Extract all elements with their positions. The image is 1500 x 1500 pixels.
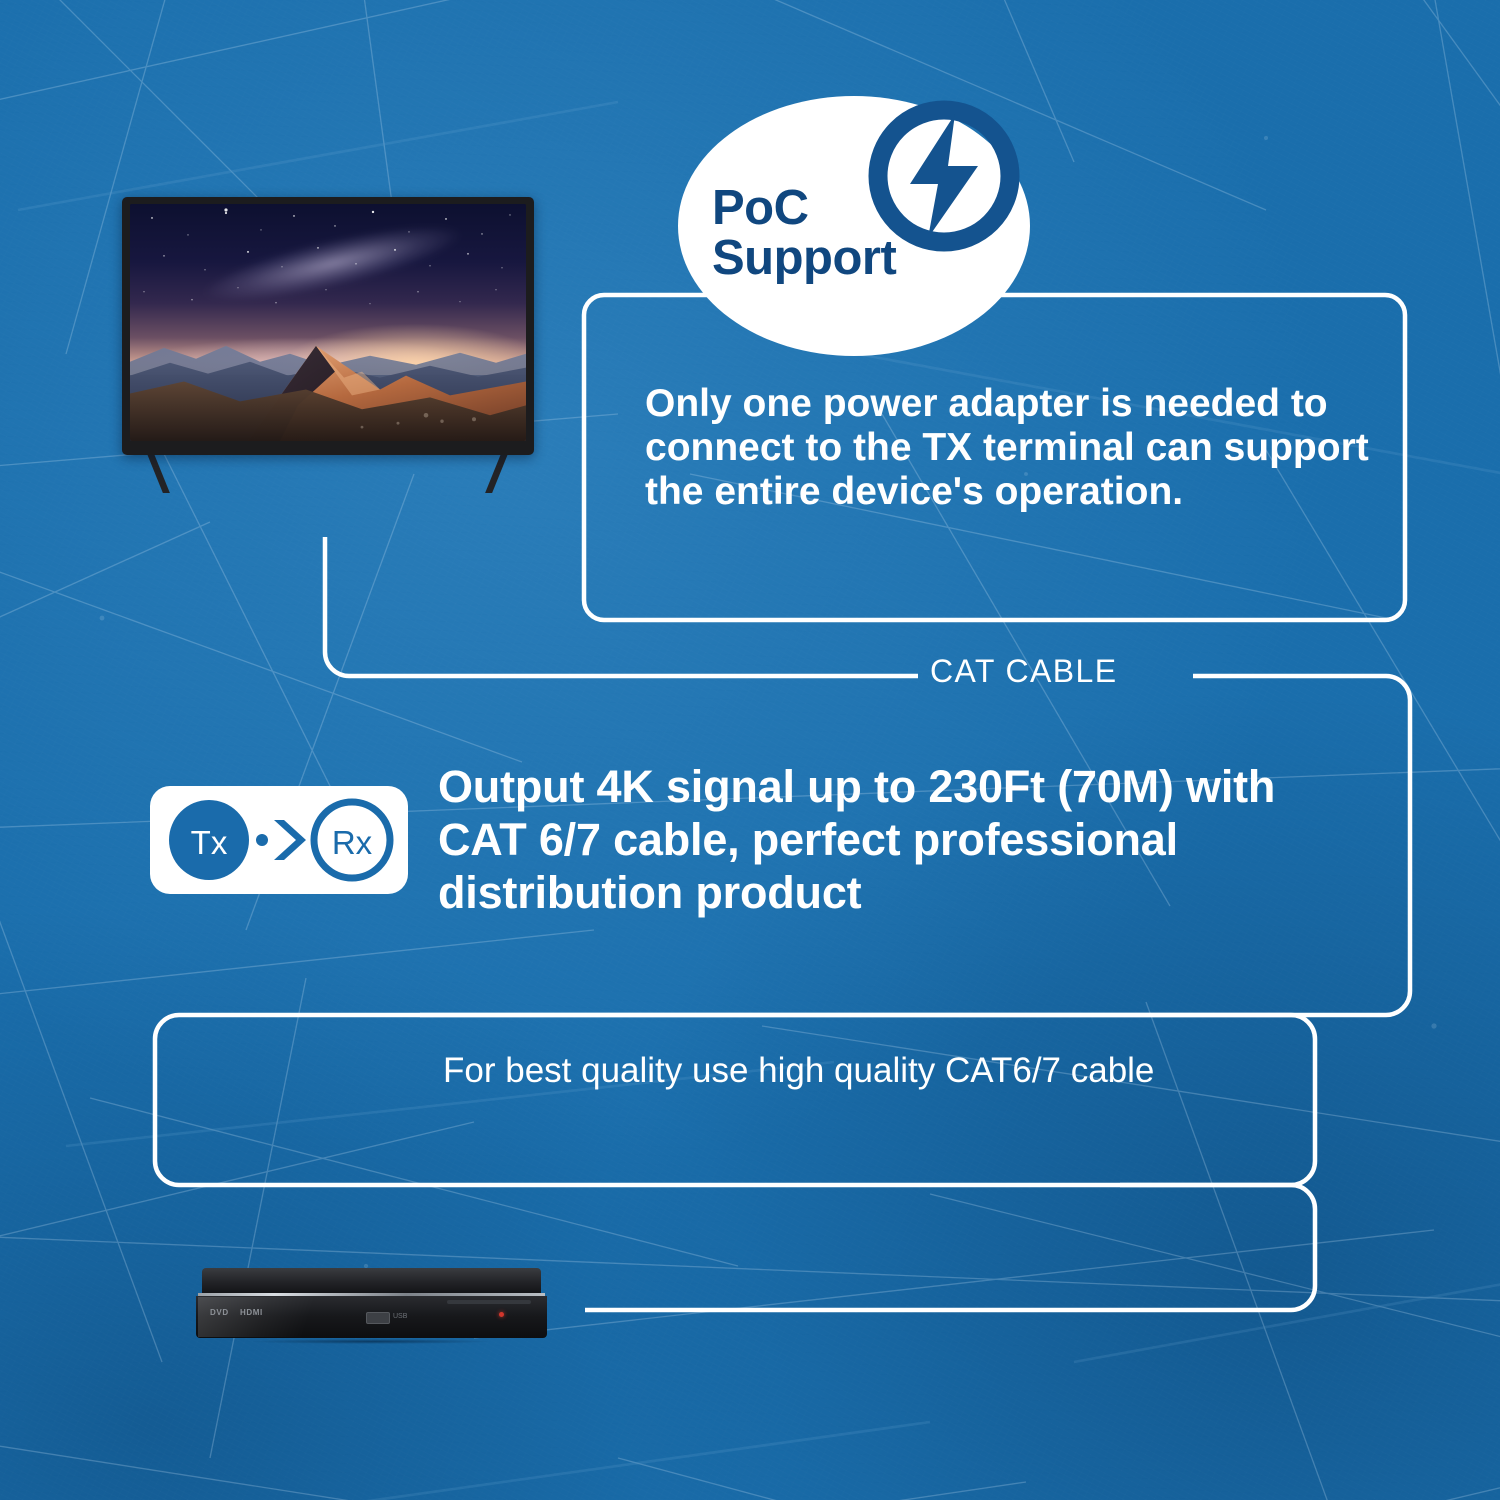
power-adapter-description: Only one power adapter is needed to conn… bbox=[645, 382, 1385, 514]
dvd-usb-port bbox=[366, 1312, 390, 1324]
cat-cable-label: CAT CABLE bbox=[930, 653, 1117, 690]
tv-device bbox=[122, 197, 534, 487]
rx-label: Rx bbox=[332, 824, 373, 861]
tx-label: Tx bbox=[191, 824, 228, 861]
dvd-shadow bbox=[204, 1338, 539, 1345]
infographic-canvas: PoC Support Only one power adapter is ne… bbox=[0, 0, 1500, 1500]
poc-badge-line2: Support bbox=[712, 234, 896, 284]
quality-description: For best quality use high quality CAT6/7… bbox=[443, 1048, 1163, 1094]
tv-stand-right bbox=[485, 449, 510, 493]
tv-screen bbox=[130, 204, 526, 441]
dvd-usb-label: USB bbox=[393, 1313, 407, 1320]
dvd-disc-slot bbox=[447, 1300, 531, 1304]
dvd-top-panel bbox=[202, 1268, 541, 1294]
tv-stand-left bbox=[145, 449, 170, 493]
tv-mountains bbox=[130, 332, 526, 441]
wire-quality-to-dvd bbox=[585, 1185, 1315, 1310]
dvd-disc-logo: DVD bbox=[210, 1308, 229, 1317]
arrow-right-icon bbox=[274, 820, 306, 860]
poc-badge-line1: PoC bbox=[712, 184, 896, 234]
dvd-hdmi-logo: HDMI bbox=[240, 1308, 263, 1317]
poc-badge-text: PoC Support bbox=[712, 184, 896, 284]
wire-tv-to-cat bbox=[325, 537, 918, 676]
panel-quality-border bbox=[155, 1015, 1315, 1185]
dvd-logos: DVD HDMI bbox=[210, 1308, 263, 1317]
dvd-gloss-reflection bbox=[198, 1297, 358, 1337]
dvd-player-device: DVD HDMI USB bbox=[194, 1268, 549, 1346]
poc-support-badge: PoC Support bbox=[678, 96, 1030, 356]
headline-description: Output 4K signal up to 230Ft (70M) with … bbox=[438, 760, 1298, 919]
tx-rx-badge: Tx Rx bbox=[150, 786, 408, 894]
tv-bezel bbox=[122, 197, 534, 455]
arrow-dot bbox=[256, 834, 268, 846]
dvd-power-led bbox=[499, 1312, 504, 1317]
